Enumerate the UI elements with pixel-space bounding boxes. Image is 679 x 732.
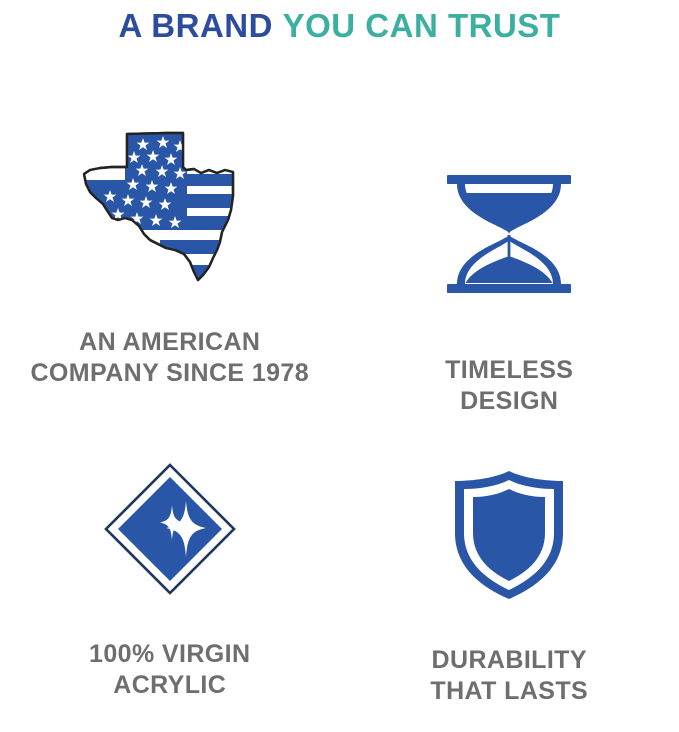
feature-caption-line2: COMPANY SINCE 1978: [30, 358, 309, 389]
feature-item-durability: DURABILITY THAT LASTS: [340, 417, 679, 732]
hourglass-icon-wrap: [443, 96, 575, 330]
shield-icon-wrap: [451, 417, 567, 625]
diamond-sparkle-icon: [102, 461, 238, 597]
feature-caption-line1: 100% VIRGIN: [89, 639, 250, 670]
page-title-space: [273, 7, 283, 44]
brand-trust-infographic: A BRAND YOU CAN TRUST: [0, 0, 679, 732]
feature-caption-line2: ACRYLIC: [89, 670, 250, 701]
feature-caption-line1: AN AMERICAN: [30, 327, 309, 358]
feature-caption: 100% VIRGIN ACRYLIC: [89, 639, 250, 701]
texas-flag-icon-wrap: [70, 96, 270, 302]
feature-caption: AN AMERICAN COMPANY SINCE 1978: [30, 327, 309, 389]
hourglass-icon: [443, 171, 575, 299]
feature-caption: DURABILITY THAT LASTS: [430, 645, 588, 707]
feature-caption-line2: THAT LASTS: [430, 676, 588, 707]
feature-caption-line1: TIMELESS: [445, 355, 573, 386]
feature-caption-line2: DESIGN: [445, 386, 573, 417]
feature-item-virgin-acrylic: 100% VIRGIN ACRYLIC: [0, 417, 340, 732]
texas-flag-icon: [70, 120, 270, 295]
feature-grid: AN AMERICAN COMPANY SINCE 1978: [0, 96, 679, 732]
feature-item-timeless-design: TIMELESS DESIGN: [340, 96, 679, 417]
page-title-part-b: YOU CAN TRUST: [283, 7, 561, 44]
page-title: A BRAND YOU CAN TRUST: [0, 6, 679, 46]
shield-icon: [451, 471, 567, 599]
feature-item-american-company: AN AMERICAN COMPANY SINCE 1978: [0, 96, 340, 417]
diamond-sparkle-icon-wrap: [102, 417, 238, 619]
feature-caption: TIMELESS DESIGN: [445, 355, 573, 417]
feature-caption-line1: DURABILITY: [430, 645, 588, 676]
page-title-part-a: A BRAND: [119, 7, 273, 44]
